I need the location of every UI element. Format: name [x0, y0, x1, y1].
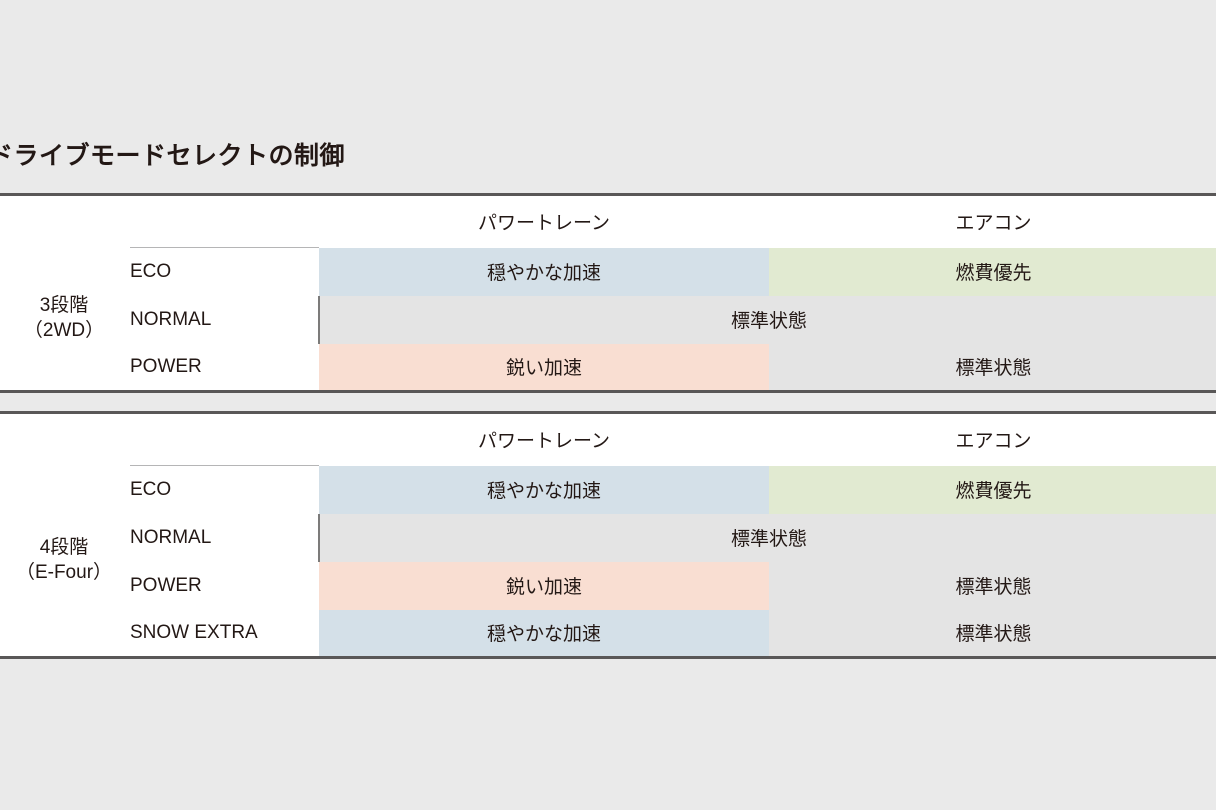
- cell-powertrain-snow-extra: 穏やかな加速: [319, 610, 769, 658]
- mode-name-normal: NORMAL: [130, 514, 319, 562]
- table-row: NORMAL 標準状態: [0, 514, 1216, 562]
- table-separator-gap: [0, 396, 1216, 411]
- group-label-line1: 3段階: [0, 294, 130, 318]
- header-air-conditioner: エアコン: [769, 413, 1216, 466]
- table-row: POWER 鋭い加速 標準状態: [0, 344, 1216, 392]
- cell-ac-snow-extra: 標準状態: [769, 610, 1216, 658]
- page-root: ドライブモードセレクトの制御 パワートレーン エアコン 3段階 （2WD） EC…: [0, 0, 1216, 810]
- header-blank-cell: [0, 413, 319, 466]
- mode-name-eco: ECO: [130, 466, 319, 514]
- cell-powertrain-eco: 穏やかな加速: [319, 466, 769, 514]
- drive-mode-table-2wd: パワートレーン エアコン 3段階 （2WD） ECO 穏やかな加速 燃費優先 N…: [0, 193, 1216, 393]
- header-air-conditioner: エアコン: [769, 195, 1216, 248]
- cell-ac-power: 標準状態: [769, 344, 1216, 392]
- group-label-line2: （2WD）: [0, 319, 130, 343]
- table-row: 4段階 （E-Four） ECO 穏やかな加速 燃費優先: [0, 466, 1216, 514]
- header-blank-cell: [0, 195, 319, 248]
- cell-powertrain-eco: 穏やかな加速: [319, 248, 769, 296]
- header-powertrain: パワートレーン: [319, 195, 769, 248]
- page-title: ドライブモードセレクトの制御: [0, 136, 628, 172]
- group-label-efour: 4段階 （E-Four）: [0, 466, 130, 658]
- table-row: SNOW EXTRA 穏やかな加速 標準状態: [0, 610, 1216, 658]
- group-label-line1: 4段階: [0, 536, 130, 560]
- header-powertrain: パワートレーン: [319, 413, 769, 466]
- group-label-line2: （E-Four）: [0, 561, 130, 585]
- group-label-2wd: 3段階 （2WD）: [0, 248, 130, 392]
- table-header-row: パワートレーン エアコン: [0, 413, 1216, 466]
- drive-mode-table-efour: パワートレーン エアコン 4段階 （E-Four） ECO 穏やかな加速 燃費優…: [0, 411, 1216, 659]
- cell-ac-power: 標準状態: [769, 562, 1216, 610]
- cell-merged-normal: 標準状態: [319, 514, 1216, 562]
- mode-name-power: POWER: [130, 344, 319, 392]
- mode-name-normal: NORMAL: [130, 296, 319, 344]
- cell-powertrain-power: 鋭い加速: [319, 562, 769, 610]
- mode-name-snow-extra: SNOW EXTRA: [130, 610, 319, 658]
- cell-powertrain-power: 鋭い加速: [319, 344, 769, 392]
- cell-ac-eco: 燃費優先: [769, 248, 1216, 296]
- cell-merged-normal: 標準状態: [319, 296, 1216, 344]
- cell-ac-eco: 燃費優先: [769, 466, 1216, 514]
- table-row: POWER 鋭い加速 標準状態: [0, 562, 1216, 610]
- table-header-row: パワートレーン エアコン: [0, 195, 1216, 248]
- mode-name-power: POWER: [130, 562, 319, 610]
- mode-name-eco: ECO: [130, 248, 319, 296]
- table-row: 3段階 （2WD） ECO 穏やかな加速 燃費優先: [0, 248, 1216, 296]
- table-row: NORMAL 標準状態: [0, 296, 1216, 344]
